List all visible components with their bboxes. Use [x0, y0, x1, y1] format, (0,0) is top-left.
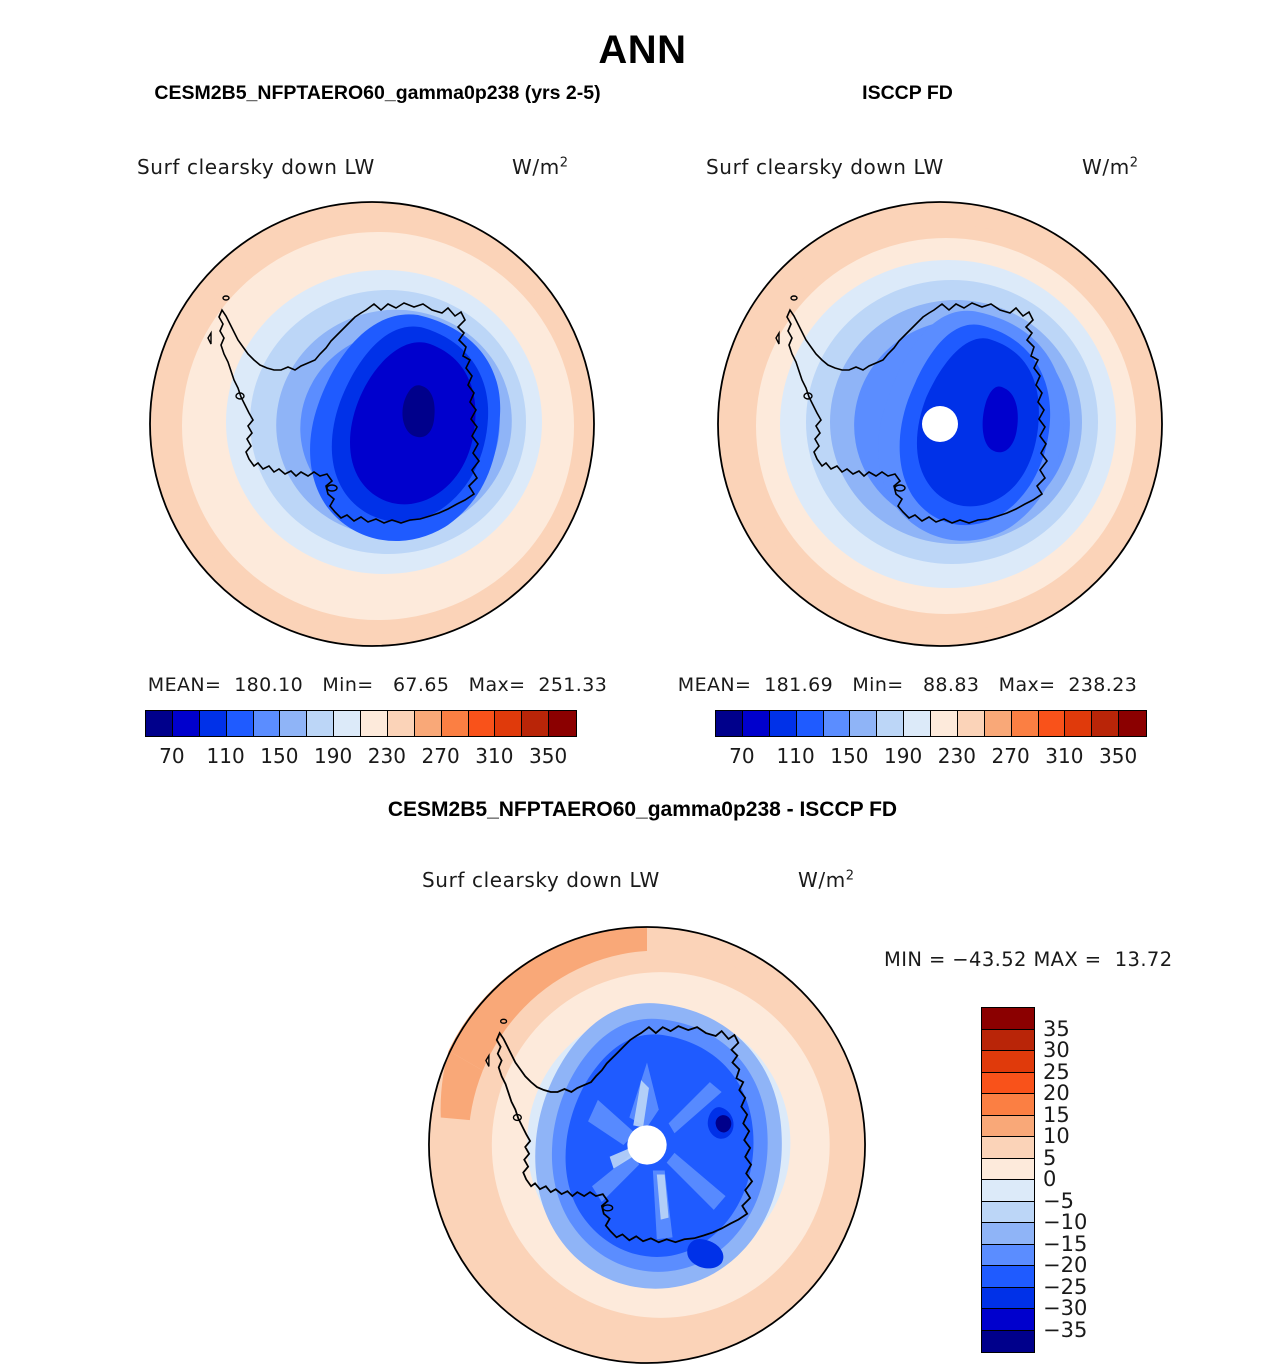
- colorbar-tick-label: −5: [1043, 1189, 1074, 1213]
- contour-bands-model: [150, 202, 594, 646]
- colorbar-tick-label: −30: [1043, 1296, 1087, 1320]
- colorbar-cells-difference[interactable]: [981, 1007, 1035, 1353]
- panel-subtitle-model: Surf clearsky down LW: [137, 155, 375, 179]
- colorbar-tick-label: 110: [207, 744, 245, 768]
- colorbar-tick-label: −20: [1043, 1253, 1087, 1277]
- colorbar-cell: [797, 711, 824, 736]
- colorbar-tick-label: 110: [777, 744, 815, 768]
- units-exponent-model: 2: [560, 155, 569, 170]
- colorbar-tick-label: −25: [1043, 1275, 1087, 1299]
- colorbar-cell: [254, 711, 281, 736]
- panel-title-obs: ISCCP FD: [530, 82, 1285, 105]
- map-svg-obs: [716, 200, 1164, 648]
- map-difference: [427, 925, 867, 1365]
- map-obs: [716, 200, 1164, 648]
- colorbar-tick-label: −35: [1043, 1318, 1087, 1342]
- colorbar-cells-model[interactable]: [145, 710, 577, 737]
- units-exponent-obs: 2: [1130, 155, 1139, 170]
- colorbar-cell: [982, 1245, 1034, 1267]
- colorbar-cell: [982, 1159, 1034, 1181]
- colorbar-cell: [716, 711, 743, 736]
- colorbar-tick-label: 270: [992, 744, 1030, 768]
- colorbar-tick-label: 350: [529, 744, 567, 768]
- colorbar-tick-label: −10: [1043, 1210, 1087, 1234]
- colorbar-cell: [1092, 711, 1119, 736]
- colorbar-cell: [1012, 711, 1039, 736]
- colorbar-tick-label: 190: [314, 744, 352, 768]
- colorbar-cell: [388, 711, 415, 736]
- colorbar-tick-label: 270: [422, 744, 460, 768]
- panel-units-difference: W/m2: [798, 868, 855, 892]
- colorbar-cell: [146, 711, 173, 736]
- panel-title-difference: CESM2B5_NFPTAERO60_gamma0p238 - ISCCP FD: [0, 798, 1285, 822]
- colorbar-tick-label: 350: [1099, 744, 1137, 768]
- pole-mask-obs: [922, 406, 958, 442]
- variable-label-model: Surf clearsky down LW: [137, 155, 375, 179]
- colorbar-cell: [982, 1202, 1034, 1224]
- colorbar-cell: [824, 711, 851, 736]
- colorbar-ticklabels-difference: 35302520151050−5−10−15−20−25−30−35: [1043, 1007, 1123, 1351]
- pole-mask-difference: [627, 1125, 666, 1164]
- panel-units-obs: W/m2: [1082, 155, 1139, 179]
- units-label-difference: W/m: [798, 868, 846, 892]
- colorbar-cell: [982, 1266, 1034, 1288]
- colorbar-cell: [982, 1288, 1034, 1310]
- colorbar-cell: [982, 1309, 1034, 1331]
- colorbar-cell: [200, 711, 227, 736]
- colorbar-cell: [1039, 711, 1066, 736]
- colorbar-cell: [982, 1331, 1034, 1353]
- colorbar-tick-label: 15: [1043, 1103, 1070, 1127]
- colorbar-tick-label: 25: [1043, 1060, 1070, 1084]
- colorbar-cells-obs[interactable]: [715, 710, 1147, 737]
- colorbar-ticklabels-model: 70110150190230270310350: [145, 744, 575, 770]
- colorbar-ticklabels-obs: 70110150190230270310350: [715, 744, 1145, 770]
- colorbar-cell: [334, 711, 361, 736]
- colorbar-cell: [904, 711, 931, 736]
- colorbar-tick-label: 20: [1043, 1081, 1070, 1105]
- colorbar-tick-label: 70: [159, 744, 184, 768]
- panel-units-model: W/m2: [512, 155, 569, 179]
- colorbar-cell: [982, 1094, 1034, 1116]
- colorbar-cell: [1119, 711, 1146, 736]
- colorbar-tick-label: 310: [1045, 744, 1083, 768]
- colorbar-cell: [227, 711, 254, 736]
- colorbar-tick-label: 230: [368, 744, 406, 768]
- colorbar-cell: [850, 711, 877, 736]
- colorbar-cell: [982, 1030, 1034, 1052]
- colorbar-cell: [442, 711, 469, 736]
- colorbar-tick-label: 5: [1043, 1146, 1056, 1170]
- colorbar-tick-label: 10: [1043, 1124, 1070, 1148]
- colorbar-horizontal-model: 70110150190230270310350: [145, 710, 577, 770]
- colorbar-cell: [982, 1223, 1034, 1245]
- colorbar-cell: [982, 1008, 1034, 1030]
- colorbar-vertical-difference: 35302520151050−5−10−15−20−25−30−35: [981, 1007, 1035, 1353]
- variable-label-obs: Surf clearsky down LW: [706, 155, 944, 179]
- map-model: [148, 200, 596, 648]
- difference-minmax-label: MIN = −43.52 MAX = 13.72: [884, 948, 1173, 971]
- colorbar-cell: [415, 711, 442, 736]
- colorbar-tick-label: 230: [938, 744, 976, 768]
- colorbar-cell: [549, 711, 576, 736]
- colorbar-cell: [469, 711, 496, 736]
- panel-subtitle-obs: Surf clearsky down LW: [706, 155, 944, 179]
- colorbar-cell: [173, 711, 200, 736]
- units-exponent-difference: 2: [846, 868, 855, 883]
- colorbar-cell: [522, 711, 549, 736]
- colorbar-cell: [982, 1116, 1034, 1138]
- colorbar-tick-label: 0: [1043, 1167, 1056, 1191]
- colorbar-tick-label: 190: [884, 744, 922, 768]
- colorbar-cell: [985, 711, 1012, 736]
- panel-stats-obs: MEAN= 181.69 Min= 88.83 Max= 238.23: [530, 674, 1285, 696]
- colorbar-tick-label: 310: [475, 744, 513, 768]
- map-svg-difference: [427, 925, 867, 1365]
- page-title: ANN: [0, 28, 1285, 73]
- colorbar-cell: [280, 711, 307, 736]
- units-label-model: W/m: [512, 155, 560, 179]
- colorbar-tick-label: 35: [1043, 1017, 1070, 1041]
- colorbar-cell: [958, 711, 985, 736]
- map-svg-model: [148, 200, 596, 648]
- colorbar-cell: [982, 1180, 1034, 1202]
- colorbar-cell: [1065, 711, 1092, 736]
- colorbar-cell: [931, 711, 958, 736]
- colorbar-tick-label: 150: [830, 744, 868, 768]
- colorbar-cell: [361, 711, 388, 736]
- colorbar-cell: [743, 711, 770, 736]
- colorbar-cell: [877, 711, 904, 736]
- colorbar-horizontal-obs: 70110150190230270310350: [715, 710, 1147, 770]
- colorbar-cell: [495, 711, 522, 736]
- colorbar-cell: [982, 1137, 1034, 1159]
- colorbar-tick-label: 30: [1043, 1038, 1070, 1062]
- panel-subtitle-difference: Surf clearsky down LW: [422, 868, 660, 892]
- colorbar-cell: [307, 711, 334, 736]
- colorbar-cell: [770, 711, 797, 736]
- variable-label-difference: Surf clearsky down LW: [422, 868, 660, 892]
- units-label-obs: W/m: [1082, 155, 1130, 179]
- colorbar-tick-label: −15: [1043, 1232, 1087, 1256]
- colorbar-cell: [982, 1051, 1034, 1073]
- colorbar-tick-label: 70: [729, 744, 754, 768]
- colorbar-tick-label: 150: [260, 744, 298, 768]
- colorbar-cell: [982, 1073, 1034, 1095]
